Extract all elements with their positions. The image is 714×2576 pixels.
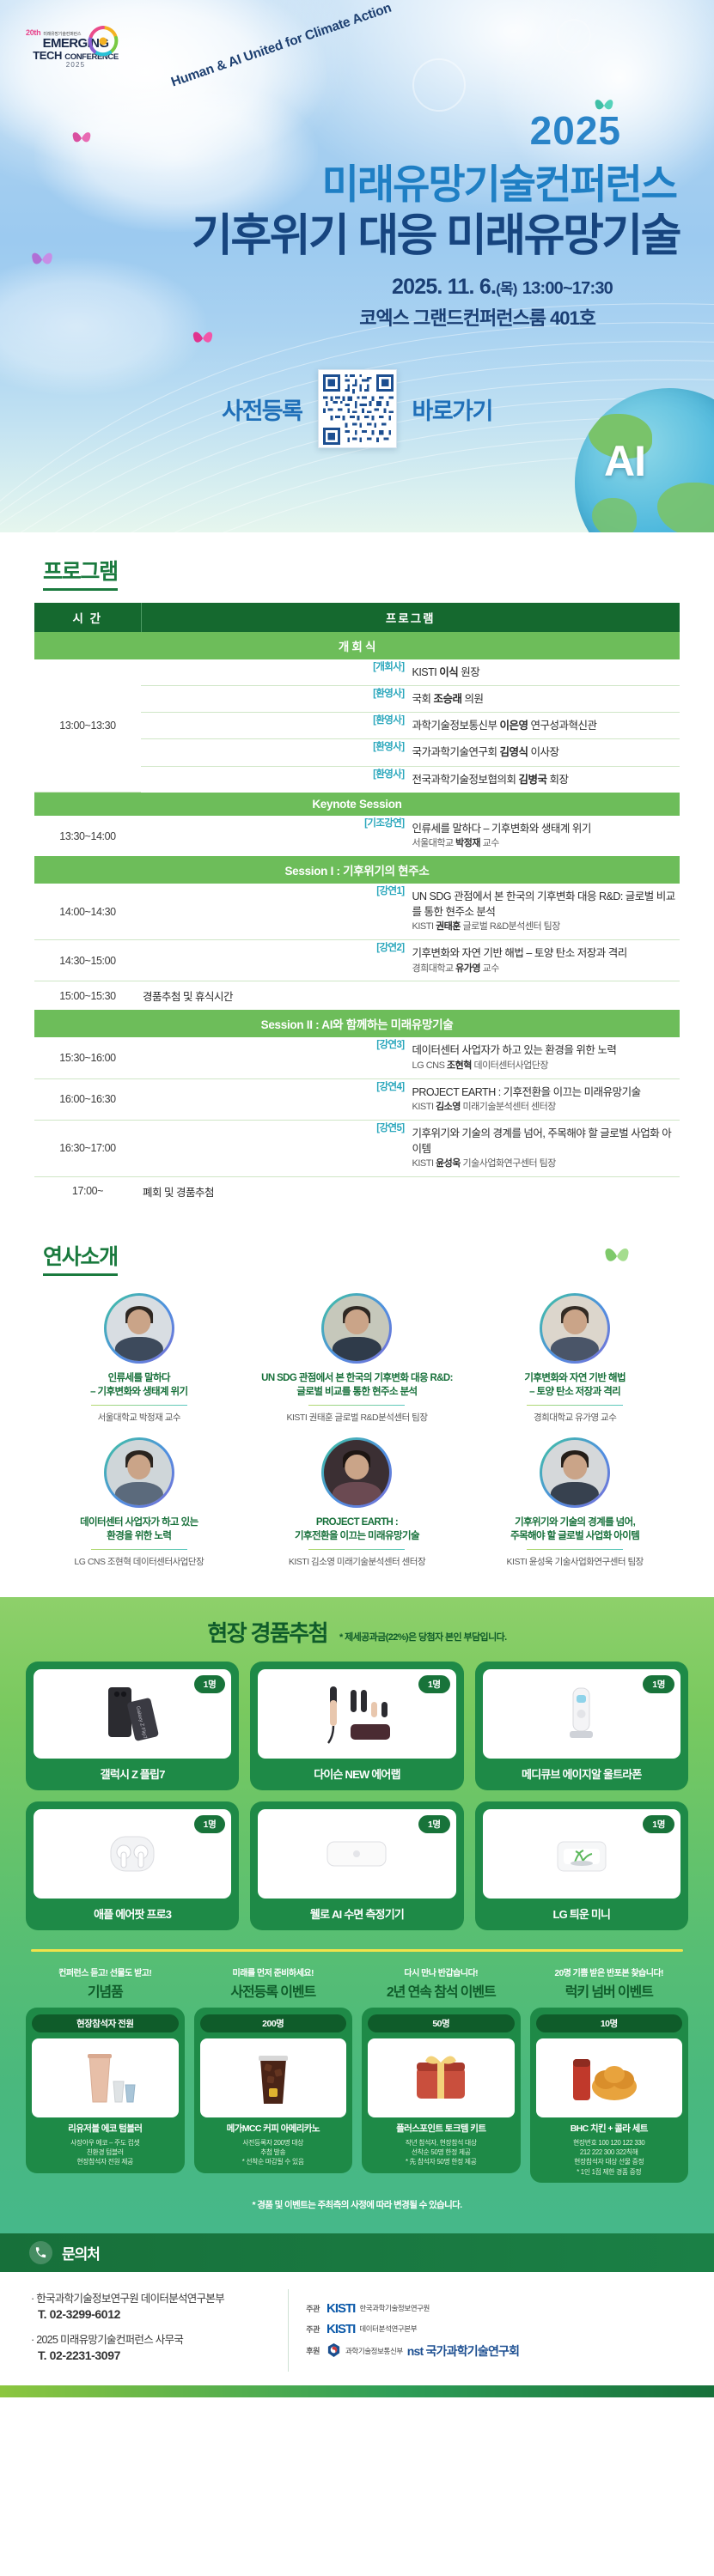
butterfly-icon-1 [70, 129, 93, 148]
prize-image: 1명 [483, 1669, 680, 1759]
kisti-mark: KISTI [326, 2322, 355, 2336]
tumbler-icon [64, 2047, 146, 2109]
contact-tel[interactable]: T. 02-3299-6012 [38, 2307, 279, 2321]
avatar [540, 1293, 610, 1364]
row-title: 데이터센터 사업자가 하고 있는 환경을 위한 노력 [412, 1044, 617, 1056]
table-row: 14:30~15:00 [강연2] 기후변화와 자연 기반 해법 – 토양 탄소… [34, 940, 680, 981]
prize-header: 현장 경품추첨 * 제세공과금(22%)은 당첨자 본인 부담입니다. [26, 1616, 688, 1648]
event-kicker: 20명 기쁨 받은 반포본 찾습니다! [555, 1965, 663, 1978]
avatar [104, 1437, 174, 1508]
program-table: 시 간 프로그램 개 회 식 13:00~13:30 [개회사] KISTI 이… [34, 603, 680, 1206]
speaker-card: 기후변화와 자연 기반 해법 – 토양 탄소 저장과 격리 경희대학교 유가영 … [470, 1293, 680, 1424]
event-qty-pill: 10명 [536, 2014, 683, 2032]
contact-column: · 한국과학기술정보연구원 데이터분석연구본부 T. 02-3299-6012 … [31, 2289, 289, 2372]
row-desc: 국회 조승래 의원 [411, 686, 680, 713]
row-time: 13:30~14:00 [34, 816, 141, 856]
speaker-topic: PROJECT EARTH : 기후전환을 이끄는 미래유망기술 [295, 1516, 419, 1543]
row-title: PROJECT EARTH : 기후전환을 이끄는 미래유망기술 [412, 1086, 641, 1098]
event-qty-pill: 현장참석자 전원 [32, 2014, 179, 2032]
contact-header-bar: 문의처 [0, 2233, 714, 2272]
row-title: 인류세를 말하다 – 기후변화와 생태계 위기 [412, 823, 591, 835]
organizer-row: 주관 KISTI 한국과학기술정보연구원 [301, 2301, 683, 2316]
event-kicker: 다시 만나 반갑습니다! [404, 1965, 478, 1978]
globe-ai-label: AI [604, 436, 645, 486]
event-image [536, 2038, 683, 2117]
phone-icon [29, 2241, 52, 2264]
prize-grid: Galaxy Z Flip7 1명 갤럭시 Z 플립7 [26, 1662, 688, 1930]
footer-body: · 한국과학기술정보연구원 데이터분석연구본부 T. 02-3299-6012 … [0, 2272, 714, 2385]
beauty-device-icon [547, 1680, 616, 1748]
event-kicker: 미래를 먼저 준비하세요! [233, 1965, 314, 1978]
event-image [200, 2038, 347, 2117]
divider [308, 1405, 405, 1406]
footer-title: 문의처 [62, 2242, 100, 2263]
row-desc: 기후변화와 자연 기반 해법 – 토양 탄소 저장과 격리 경희대학교 유가영 … [411, 940, 680, 981]
prize-section-title: 현장 경품추첨 [207, 1616, 327, 1648]
row-speaker: LG CNS 조현혁 데이터센터사업단장 [412, 1060, 680, 1073]
event-column: 20명 기쁨 받은 반포본 찾습니다! 럭키 넘버 이벤트 10명 [530, 1965, 689, 2183]
prize-section: 현장 경품추첨 * 제세공과금(22%)은 당첨자 본인 부담입니다. Gala… [0, 1597, 714, 2233]
event-name: 2년 연속 참석 이벤트 [387, 1980, 496, 2001]
sleep-sensor-icon [315, 1828, 398, 1880]
band-session1: Session I : 기후위기의 현주소 [34, 856, 680, 884]
prize-qty-badge: 1명 [194, 1815, 226, 1833]
speaker-topic-line1: 인류세를 말하다 [108, 1373, 170, 1383]
event-caption: 리유저블 에코 텀블러 [32, 2117, 179, 2138]
prize-card: 1명 메디큐브 에이지알 울트라폰 [475, 1662, 688, 1790]
hero-tagline: Human & AI United for Climate Action [169, 1, 394, 91]
row-title: 기후변화와 자연 기반 해법 – 토양 탄소 저장과 격리 [412, 947, 627, 959]
speaker-card: UN SDG 관점에서 본 한국의 기후변화 대응 R&D: 글로벌 비교를 통… [253, 1293, 462, 1424]
organizer-row: 후원 과학기술정보통신부 nst 국가과학기술연구회 [301, 2342, 683, 2360]
divider [308, 1549, 405, 1550]
row-speaker: KISTI 권태훈 글로벌 R&D분석센터 팀장 [412, 920, 680, 934]
registration-qr-code[interactable] [318, 369, 397, 448]
band-session2-row: Session II : AI와 함께하는 미래유망기술 [34, 1010, 680, 1037]
lens-ring-1 [412, 58, 466, 112]
row-tag: [환영사] [141, 686, 411, 713]
event-caption: 플러스포인트 토크템 키트 [368, 2117, 515, 2138]
speaker-card: 데이터센터 사업자가 하고 있는 환경을 위한 노력 LG CNS 조현혁 데이… [34, 1437, 244, 1568]
row-time: 14:00~14:30 [34, 884, 141, 940]
hair-styler-icon [309, 1680, 404, 1748]
avatar [321, 1293, 392, 1364]
speaker-topic: 기후위기와 기술의 경계를 넘어, 주목해야 할 글로벌 사업화 아이템 [510, 1516, 639, 1543]
kisti-logo-2: KISTI 데이터분석연구본부 [326, 2322, 417, 2336]
organizer-role: 후원 [301, 2345, 320, 2356]
section-divider [31, 1949, 683, 1952]
conference-poster: 20th 미래유망기술컨퍼런스 EMERGING TECH CONFERENCE… [0, 0, 714, 2576]
band-session2: Session II : AI와 함께하는 미래유망기술 [34, 1010, 680, 1037]
event-column: 미래를 먼저 준비하세요! 사전등록 이벤트 200명 [194, 1965, 353, 2183]
row-time: 15:30~16:00 [34, 1037, 141, 1078]
earbuds-icon [95, 1823, 169, 1885]
row-speaker: KISTI 윤성욱 기술사업화연구센터 팀장 [412, 1157, 680, 1171]
kisti-text: 한국과학기술정보연구원 [359, 2304, 430, 2312]
organizer-row: 주관 KISTI 데이터분석연구본부 [301, 2322, 683, 2336]
speakers-section-title: 연사소개 [43, 1240, 118, 1276]
contact-tel[interactable]: T. 02-2231-3097 [38, 2348, 279, 2362]
prize-image: 1명 [34, 1809, 231, 1899]
row-tag: [기조강연] [141, 816, 411, 856]
band-session1-row: Session I : 기후위기의 현주소 [34, 856, 680, 884]
event-sub: 사장아우 에코 – 주도 컵셋친환경 텀블러현장참석자 전원 제공 [32, 2138, 179, 2173]
row-tag: [강연1] [141, 884, 411, 940]
speaker-topic-line1: 기후위기와 기술의 경계를 넘어, [515, 1517, 635, 1528]
speaker-card: PROJECT EARTH : 기후전환을 이끄는 미래유망기술 KISTI 김… [253, 1437, 462, 1568]
lens-ring-2 [557, 19, 591, 53]
event-dayofweek: (목) [496, 281, 517, 297]
logo-rank: 20th [26, 29, 40, 37]
row-desc: 인류세를 말하다 – 기후변화와 생태계 위기 서울대학교 박정재 교수 [411, 816, 680, 856]
row-desc: 데이터센터 사업자가 하고 있는 환경을 위한 노력 LG CNS 조현혁 데이… [411, 1037, 680, 1078]
avatar [104, 1293, 174, 1364]
header-program: 프로그램 [141, 603, 680, 632]
prize-image: 1명 [258, 1809, 455, 1899]
taegeuk-icon [326, 2342, 341, 2359]
event-datetime: 2025. 11. 6.(목) 13:00~17:30 [392, 275, 613, 300]
row-tag: [강연5] [141, 1120, 411, 1176]
footer-accent-strip [0, 2385, 714, 2397]
speaker-topic-line2: 글로벌 비교를 통한 현주소 분석 [296, 1387, 417, 1397]
butterfly-icon-5 [602, 1243, 632, 1269]
speaker-topic: UN SDG 관점에서 본 한국의 기후변화 대응 R&D: 글로벌 비교를 통… [261, 1371, 453, 1399]
event-card: 10명 BHC 치킨 + 콜라 세트 현장번호 100 [530, 2008, 689, 2183]
prize-name: 갤럭시 Z 플립7 [34, 1759, 231, 1790]
speaker-affiliation: LG CNS 조현혁 데이터센터사업단장 [74, 1555, 204, 1568]
avatar [540, 1437, 610, 1508]
row-speaker: KISTI 김소영 미래기술분석센터 센터장 [412, 1101, 680, 1115]
row-desc: 전국과학기술정보협의회 김병국 회장 [411, 766, 680, 793]
prize-qty-badge: 1명 [643, 1675, 674, 1693]
preregistration-label: 사전등록 [222, 392, 302, 426]
event-date: 2025. 11. 6. [392, 275, 496, 299]
prize-image: 1명 [258, 1669, 455, 1759]
prize-qty-badge: 1명 [418, 1675, 450, 1693]
table-row: 13:30~14:00 [기조강연] 인류세를 말하다 – 기후변화와 생태계 … [34, 816, 680, 856]
event-venue: 코엑스 그랜드컨퍼런스룸 401호 [359, 303, 595, 331]
msit-text: 과학기술정보통신부 [345, 2347, 403, 2355]
speaker-topic: 기후변화와 자연 기반 해법 – 토양 탄소 저장과 격리 [524, 1371, 626, 1399]
event-sub: 사전등록자 200명 대상추첨 발송* 선착순 마감될 수 있음 [200, 2138, 347, 2173]
table-row: 16:00~16:30 [강연4] PROJECT EARTH : 기후전환을 … [34, 1078, 680, 1120]
footer-section: 문의처 · 한국과학기술정보연구원 데이터분석연구본부 T. 02-3299-6… [0, 2233, 714, 2397]
divider [527, 1405, 623, 1406]
speaker-affiliation: KISTI 윤성욱 기술사업화연구센터 팀장 [507, 1555, 644, 1568]
band-keynote: Keynote Session [34, 793, 680, 817]
event-caption: BHC 치킨 + 콜라 세트 [536, 2117, 683, 2138]
speaker-topic: 인류세를 말하다 – 기후변화와 생태계 위기 [90, 1371, 187, 1399]
iced-coffee-icon [243, 2047, 303, 2109]
prize-name: LG 틔운 미니 [483, 1899, 680, 1930]
event-name: 사전등록 이벤트 [230, 1980, 315, 2001]
event-name: 럭키 넘버 이벤트 [565, 1980, 653, 2001]
row-desc: KISTI 이식 원장 [411, 659, 680, 686]
prize-name: 애플 에어팟 프로3 [34, 1899, 231, 1930]
speaker-affiliation: KISTI 김소영 미래기술분석센터 센터장 [289, 1555, 425, 1568]
event-sub: 현장번호 100 120 122 330212 222 300 322칙해현장참… [536, 2138, 683, 2183]
speaker-topic-line2: 주목해야 할 글로벌 사업화 아이템 [510, 1531, 639, 1541]
row-tag: [환영사] [141, 713, 411, 739]
row-desc: 기후위기와 기술의 경계를 넘어, 주목해야 할 글로벌 사업화 아이템 KIS… [411, 1120, 680, 1176]
speaker-topic-line2: 환경을 위한 노력 [107, 1531, 171, 1541]
prize-image: Galaxy Z Flip7 1명 [34, 1669, 231, 1759]
speakers-section: 연사소개 인류세를 말하다 – 기후변화와 생태계 위기 서울대학교 박정재 교… [0, 1214, 714, 1597]
row-tag: [강연3] [141, 1037, 411, 1078]
row-title: UN SDG 관점에서 본 한국의 기후변화 대응 R&D: 글로벌 비교를 통… [412, 890, 675, 918]
emerging-tech-logo: 20th 미래유망기술컨퍼런스 EMERGING TECH CONFERENCE… [24, 21, 127, 77]
row-title: 기후위기와 기술의 경계를 넘어, 주목해야 할 글로벌 사업화 아이템 [412, 1127, 672, 1155]
row-time: 16:30~17:00 [34, 1120, 141, 1176]
divider [527, 1549, 623, 1550]
speaker-topic: 데이터센터 사업자가 하고 있는 환경을 위한 노력 [80, 1516, 198, 1543]
table-row: 13:00~13:30 [개회사] KISTI 이식 원장 [34, 659, 680, 686]
speaker-topic-line2: – 토양 탄소 저장과 격리 [529, 1387, 620, 1397]
band-opening-row: 개 회 식 [34, 632, 680, 659]
row-time: 14:30~15:00 [34, 940, 141, 981]
divider [91, 1405, 187, 1406]
row-speaker: 서울대학교 박정재 교수 [412, 837, 680, 851]
event-card: 200명 메가MCC 커피 아메 [194, 2008, 353, 2173]
event-time: 13:00~17:30 [522, 279, 613, 298]
row-time: 16:00~16:30 [34, 1078, 141, 1120]
speaker-topic-line2: 기후전환을 이끄는 미래유망기술 [295, 1531, 419, 1541]
event-caption: 메가MCC 커피 아메리카노 [200, 2117, 347, 2138]
kisti-text: 데이터분석연구본부 [359, 2324, 417, 2333]
row-time: 15:00~15:30 [34, 981, 141, 1011]
event-column: 컨퍼런스 듣고! 선물도 받고! 기념품 현장참석자 전원 리유저블 에코 텀블… [26, 1965, 185, 2183]
table-row: 16:30~17:00 [강연5] 기후위기와 기술의 경계를 넘어, 주목해야… [34, 1120, 680, 1176]
organizer-role: 주관 [301, 2324, 320, 2335]
speaker-affiliation: 서울대학교 박정재 교수 [98, 1411, 180, 1424]
row-tag: [강연4] [141, 1078, 411, 1120]
table-row: 17:00~ 폐회 및 경품추첨 [34, 1176, 680, 1206]
prize-card: 1명 웰로 AI 수면 측정기기 [250, 1801, 463, 1930]
prize-card: Galaxy Z Flip7 1명 갤럭시 Z 플립7 [26, 1662, 239, 1790]
gift-kit-icon [401, 2047, 480, 2109]
prize-card: 1명 LG 틔운 미니 [475, 1801, 688, 1930]
table-row: 15:00~15:30 경품추첨 및 휴식시간 [34, 981, 680, 1011]
row-title: 폐회 및 경품추첨 [141, 1176, 680, 1206]
event-kicker: 컨퍼런스 듣고! 선물도 받고! [58, 1965, 151, 1978]
avatar [321, 1437, 392, 1508]
event-name: 기념품 [88, 1980, 123, 2001]
kisti-logo-1: KISTI 한국과학기술정보연구원 [326, 2301, 430, 2316]
speaker-topic-line1: 데이터센터 사업자가 하고 있는 [80, 1517, 198, 1528]
row-tag: [환영사] [141, 739, 411, 766]
hero-banner: 20th 미래유망기술컨퍼런스 EMERGING TECH CONFERENCE… [0, 0, 714, 532]
hero-year: 2025 [530, 107, 621, 154]
event-qty-pill: 50명 [368, 2014, 515, 2032]
speakers-grid: 인류세를 말하다 – 기후변화와 생태계 위기 서울대학교 박정재 교수 UN … [34, 1293, 680, 1568]
speaker-topic-line1: PROJECT EARTH : [316, 1517, 398, 1528]
organizer-role: 주관 [301, 2303, 320, 2314]
header-time: 시 간 [34, 603, 141, 632]
row-desc: PROJECT EARTH : 기후전환을 이끄는 미래유망기술 KISTI 김… [411, 1078, 680, 1120]
event-column: 다시 만나 반갑습니다! 2년 연속 참석 이벤트 50명 플러스포인트 토크템 [362, 1965, 521, 2183]
program-section-title: 프로그램 [43, 555, 118, 591]
prize-name: 웰로 AI 수면 측정기기 [258, 1899, 455, 1930]
prize-tax-note: * 제세공과금(22%)은 당첨자 본인 부담입니다. [339, 1630, 507, 1648]
opening-time: 13:00~13:30 [34, 659, 141, 793]
msit-logo: 과학기술정보통신부 nst 국가과학기술연구회 [326, 2342, 519, 2360]
logo-swirl-icon [84, 22, 122, 60]
planter-icon [540, 1823, 623, 1885]
speaker-topic-line2: – 기후변화와 생태계 위기 [90, 1387, 187, 1397]
row-tag: [강연2] [141, 940, 411, 981]
row-time: 17:00~ [34, 1176, 141, 1206]
go-to-registration-label[interactable]: 바로가기 [412, 392, 492, 426]
event-card: 현장참석자 전원 리유저블 에코 텀블러 사장아우 에코 – 주도 컵셋친환경 … [26, 2008, 185, 2173]
speaker-affiliation: KISTI 권태훈 글로벌 R&D분석센터 팀장 [286, 1411, 427, 1424]
prize-card: 1명 다이슨 NEW 에어랩 [250, 1662, 463, 1790]
divider [91, 1549, 187, 1550]
speaker-affiliation: 경희대학교 유가영 교수 [534, 1411, 616, 1424]
row-tag: [환영사] [141, 766, 411, 793]
nst-text: nst 국가과학기술연구회 [407, 2342, 519, 2360]
logo-year: 2025 [66, 62, 86, 69]
row-desc: 국가과학기술연구회 김영식 이사장 [411, 739, 680, 766]
speaker-card: 기후위기와 기술의 경계를 넘어, 주목해야 할 글로벌 사업화 아이템 KIS… [470, 1437, 680, 1568]
event-image [368, 2038, 515, 2117]
event-qty-pill: 200명 [200, 2014, 347, 2032]
speaker-card: 인류세를 말하다 – 기후변화와 생태계 위기 서울대학교 박정재 교수 [34, 1293, 244, 1424]
event-sub: 작년 참석자, 현장참석 대상선착순 50명 한정 제공* 先 참석자 50명 … [368, 2138, 515, 2173]
band-keynote-row: Keynote Session [34, 793, 680, 817]
events-grid: 컨퍼런스 듣고! 선물도 받고! 기념품 현장참석자 전원 리유저블 에코 텀블… [26, 1965, 688, 2183]
band-opening: 개 회 식 [34, 632, 680, 659]
foldable-phone-icon: Galaxy Z Flip7 [93, 1680, 172, 1747]
contact-org: · 2025 미래유망기술컨퍼런스 사무국 [31, 2330, 279, 2347]
logo-line2: TECH [33, 49, 62, 62]
kisti-mark: KISTI [326, 2301, 355, 2316]
speaker-topic-line1: 기후변화와 자연 기반 해법 [524, 1373, 626, 1383]
chicken-set-icon [566, 2047, 652, 2109]
hero-title-line2: 기후위기 대응 미래유망기술 [192, 199, 680, 264]
speaker-topic-line1: UN SDG 관점에서 본 한국의 기후변화 대응 R&D: [261, 1373, 453, 1383]
table-row: 14:00~14:30 [강연1] UN SDG 관점에서 본 한국의 기후변화… [34, 884, 680, 940]
prize-name: 다이슨 NEW 에어랩 [258, 1759, 455, 1790]
organizers-column: 주관 KISTI 한국과학기술정보연구원 주관 KISTI 데이터분석연구본부 … [301, 2289, 683, 2372]
prize-qty-badge: 1명 [643, 1815, 674, 1833]
program-section: 프로그램 시 간 프로그램 개 회 식 13:00~13:30 [개회사] KI… [0, 532, 714, 1214]
row-desc: UN SDG 관점에서 본 한국의 기후변화 대응 R&D: 글로벌 비교를 통… [411, 884, 680, 940]
program-table-header: 시 간 프로그램 [34, 603, 680, 632]
prize-card: 1명 애플 에어팟 프로3 [26, 1801, 239, 1930]
contact-org: · 한국과학기술정보연구원 데이터분석연구본부 [31, 2289, 279, 2306]
row-desc: 과학기술정보통신부 이은영 연구성과혁신관 [411, 713, 680, 739]
events-footnote: * 경품 및 이벤트는 주최측의 사정에 따라 변경될 수 있습니다. [26, 2198, 688, 2211]
table-row: 15:30~16:00 [강연3] 데이터센터 사업자가 하고 있는 환경을 위… [34, 1037, 680, 1078]
row-speaker: 경희대학교 유가영 교수 [412, 963, 680, 976]
prize-qty-badge: 1명 [418, 1815, 450, 1833]
prize-qty-badge: 1명 [194, 1675, 226, 1693]
event-image [32, 2038, 179, 2117]
prize-image: 1명 [483, 1809, 680, 1899]
row-tag: [개회사] [141, 659, 411, 686]
prize-name: 메디큐브 에이지알 울트라폰 [483, 1759, 680, 1790]
row-title: 경품추첨 및 휴식시간 [141, 981, 680, 1011]
event-card: 50명 플러스포인트 토크템 키트 작년 참석자, 현장참석 대상선착순 50명… [362, 2008, 521, 2173]
